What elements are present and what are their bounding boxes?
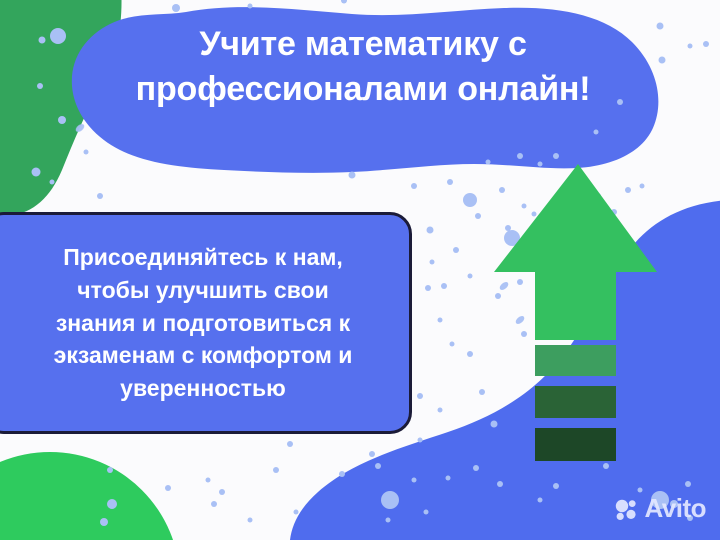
bar-1	[535, 345, 616, 376]
up-arrow-icon	[494, 164, 657, 340]
info-card-text: Присоединяйтесь к нам, чтобы улучшить св…	[54, 241, 353, 404]
info-card: Присоединяйтесь к нам, чтобы улучшить св…	[0, 212, 412, 434]
bar-2	[535, 386, 616, 418]
info-card-line-2: чтобы улучшить свои	[54, 274, 353, 307]
info-card-line-5: уверенностью	[54, 372, 353, 405]
info-card-line-1: Присоединяйтесь к нам,	[54, 241, 353, 274]
headline-line-2: профессионалами онлайн!	[78, 67, 648, 112]
avito-watermark-text: Avito	[644, 493, 706, 524]
headline: Учите математику с профессионалами онлай…	[78, 22, 648, 112]
poster-canvas: Учите математику с профессионалами онлай…	[0, 0, 720, 540]
avito-watermark: Avito	[614, 493, 706, 524]
info-card-line-3: знания и подготовиться к	[54, 307, 353, 340]
avito-dots-logo-icon	[614, 497, 638, 521]
headline-line-1: Учите математику с	[78, 22, 648, 67]
bar-3	[535, 428, 616, 461]
info-card-line-4: экзаменам с комфортом и	[54, 339, 353, 372]
